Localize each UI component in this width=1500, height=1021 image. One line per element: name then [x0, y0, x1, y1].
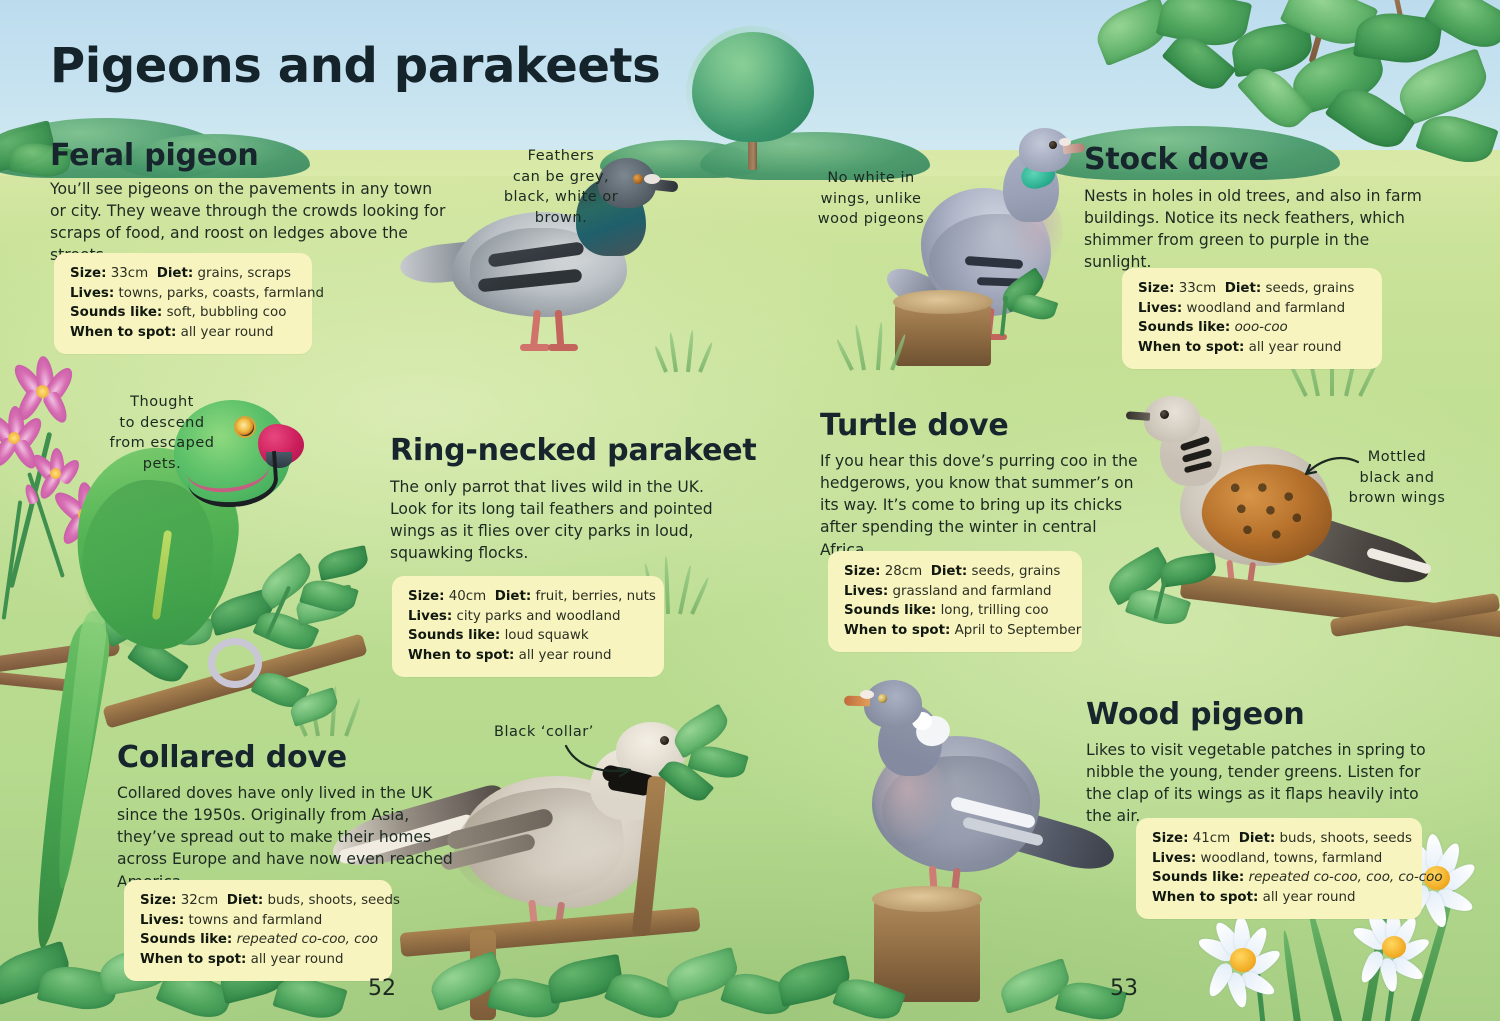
fact-value-sounds: repeated co-coo, coo, co-coo [1249, 870, 1443, 885]
callout-escaped-pets: Thought to descend from escaped pets. [82, 392, 242, 474]
bird-title-collared-dove: Collared dove [117, 740, 347, 775]
fact-value-lives: woodland, towns, farmland [1201, 851, 1383, 866]
fact-row-lives: Lives: city parks and woodland [408, 607, 648, 627]
fact-row-when: When to spot: all year round [140, 950, 376, 970]
fact-label-diet: Diet: [495, 589, 532, 604]
fact-value-sounds: repeated co-coo, coo [237, 932, 378, 947]
bird-title-stock-dove: Stock dove [1084, 142, 1269, 177]
fact-label-size: Size: [1152, 831, 1188, 846]
fact-label-diet: Diet: [227, 893, 264, 908]
fact-row-sounds: Sounds like: ooo-coo [1138, 318, 1366, 338]
page-title: Pigeons and parakeets [50, 38, 660, 94]
fact-label-lives: Lives: [140, 913, 184, 928]
fact-value-diet: buds, shoots, seeds [1280, 831, 1413, 846]
fact-label-diet: Diet: [1239, 831, 1276, 846]
factbox-stock-dove: Size: 33cm Diet: seeds, grains Lives: wo… [1122, 268, 1382, 369]
fact-label-lives: Lives: [1152, 851, 1196, 866]
fact-label-lives: Lives: [1138, 301, 1182, 316]
factbox-ring-necked-parakeet: Size: 40cm Diet: fruit, berries, nuts Li… [392, 576, 664, 677]
fact-value-lives: towns, parks, coasts, farmland [119, 286, 324, 301]
fact-value-size: 41cm [1193, 831, 1230, 846]
fact-row-lives: Lives: towns and farmland [140, 911, 376, 931]
fact-label-diet: Diet: [157, 266, 194, 281]
fact-value-lives: grassland and farmland [893, 584, 1052, 599]
fact-row-lives: Lives: grassland and farmland [844, 582, 1066, 602]
fact-value-diet: seeds, grains [972, 564, 1061, 579]
fact-row-size-diet: Size: 33cm Diet: grains, scraps [70, 264, 296, 284]
fact-label-lives: Lives: [408, 609, 452, 624]
fact-value-diet: seeds, grains [1266, 281, 1355, 296]
fact-label-size: Size: [70, 266, 106, 281]
fact-label-size: Size: [140, 893, 176, 908]
bird-title-feral-pigeon: Feral pigeon [50, 138, 259, 173]
fact-label-when: When to spot: [1138, 340, 1244, 355]
bird-title-turtle-dove: Turtle dove [820, 408, 1009, 443]
fact-value-diet: fruit, berries, nuts [536, 589, 656, 604]
fact-value-sounds: loud squawk [505, 628, 589, 643]
fact-row-lives: Lives: woodland and farmland [1138, 299, 1366, 319]
fact-row-lives: Lives: woodland, towns, farmland [1152, 849, 1406, 869]
fact-row-lives: Lives: towns, parks, coasts, farmland [70, 284, 296, 304]
bird-description-stock-dove: Nests in holes in old trees, and also in… [1084, 185, 1424, 274]
fact-label-when: When to spot: [844, 623, 950, 638]
arrow-black-collar [560, 742, 640, 784]
fact-label-sounds: Sounds like: [70, 305, 162, 320]
fact-label-sounds: Sounds like: [844, 603, 936, 618]
fact-label-size: Size: [1138, 281, 1174, 296]
fact-value-sounds: long, trilling coo [941, 603, 1049, 618]
factbox-feral-pigeon: Size: 33cm Diet: grains, scraps Lives: t… [54, 253, 312, 354]
fact-value-size: 33cm [1179, 281, 1216, 296]
fact-value-size: 40cm [449, 589, 486, 604]
fact-value-when: all year round [1249, 340, 1342, 355]
fact-label-lives: Lives: [844, 584, 888, 599]
illustration-wood-pigeon [830, 660, 1110, 920]
fact-label-sounds: Sounds like: [1138, 320, 1230, 335]
fact-label-diet: Diet: [931, 564, 968, 579]
fact-label-diet: Diet: [1225, 281, 1262, 296]
fact-label-sounds: Sounds like: [140, 932, 232, 947]
fact-value-sounds: soft, bubbling coo [167, 305, 287, 320]
fact-value-size: 32cm [181, 893, 218, 908]
page-number-right: 53 [1110, 976, 1138, 1001]
fact-value-diet: grains, scraps [198, 266, 291, 281]
fact-value-diet: buds, shoots, seeds [268, 893, 401, 908]
fact-value-size: 33cm [111, 266, 148, 281]
fact-row-sounds: Sounds like: repeated co-coo, coo [140, 930, 376, 950]
fact-row-sounds: Sounds like: repeated co-coo, coo, co-co… [1152, 868, 1406, 888]
fact-row-size-diet: Size: 41cm Diet: buds, shoots, seeds [1152, 829, 1406, 849]
fact-value-lives: woodland and farmland [1187, 301, 1346, 316]
fact-row-sounds: Sounds like: soft, bubbling coo [70, 303, 296, 323]
fact-row-size-diet: Size: 28cm Diet: seeds, grains [844, 562, 1066, 582]
fact-row-when: When to spot: all year round [1152, 888, 1406, 908]
bird-title-wood-pigeon: Wood pigeon [1086, 697, 1305, 732]
bird-description-wood-pigeon: Likes to visit vegetable patches in spri… [1086, 739, 1426, 828]
bird-title-ring-necked-parakeet: Ring-necked parakeet [390, 433, 757, 468]
grass-tuft [846, 322, 916, 370]
fact-row-size-diet: Size: 40cm Diet: fruit, berries, nuts [408, 587, 648, 607]
fact-value-when: all year round [519, 648, 612, 663]
fact-row-size-diet: Size: 33cm Diet: seeds, grains [1138, 279, 1366, 299]
fact-label-sounds: Sounds like: [1152, 870, 1244, 885]
fact-label-lives: Lives: [70, 286, 114, 301]
bird-description-collared-dove: Collared doves have only lived in the UK… [117, 782, 457, 893]
fact-value-lives: towns and farmland [189, 913, 323, 928]
fact-row-size-diet: Size: 32cm Diet: buds, shoots, seeds [140, 891, 376, 911]
fact-value-lives: city parks and woodland [457, 609, 621, 624]
fact-row-when: When to spot: all year round [408, 646, 648, 666]
bird-description-turtle-dove: If you hear this dove’s purring coo in t… [820, 450, 1150, 561]
factbox-wood-pigeon: Size: 41cm Diet: buds, shoots, seeds Liv… [1136, 818, 1422, 919]
fact-row-when: When to spot: all year round [1138, 338, 1366, 358]
bird-description-ring-necked-parakeet: The only parrot that lives wild in the U… [390, 476, 725, 565]
callout-no-white-in-wings: No white in wings, unlike wood pigeons [796, 168, 946, 230]
callout-feathers-colour: Feathers can be grey, black, white or br… [476, 146, 646, 228]
fact-value-when: all year round [251, 952, 344, 967]
fact-row-when: When to spot: April to September [844, 621, 1066, 641]
fact-label-size: Size: [844, 564, 880, 579]
fact-label-sounds: Sounds like: [408, 628, 500, 643]
fact-row-sounds: Sounds like: loud squawk [408, 626, 648, 646]
fact-label-when: When to spot: [140, 952, 246, 967]
book-page-spread: Pigeons and parakeets Feral pigeon You’l… [0, 0, 1500, 1021]
fact-row-sounds: Sounds like: long, trilling coo [844, 601, 1066, 621]
factbox-turtle-dove: Size: 28cm Diet: seeds, grains Lives: gr… [828, 551, 1082, 652]
fact-value-sounds: ooo-coo [1235, 320, 1288, 335]
fact-value-when: all year round [181, 325, 274, 340]
fact-label-size: Size: [408, 589, 444, 604]
tree-crown [692, 32, 814, 142]
fact-label-when: When to spot: [408, 648, 514, 663]
fact-value-when: all year round [1263, 890, 1356, 905]
fact-label-when: When to spot: [1152, 890, 1258, 905]
factbox-collared-dove: Size: 32cm Diet: buds, shoots, seeds Liv… [124, 880, 392, 981]
callout-black-collar: Black ‘collar’ [494, 722, 654, 743]
page-number-left: 52 [368, 976, 396, 1001]
callout-mottled-wings: Mottled black and brown wings [1332, 447, 1462, 509]
fact-value-size: 28cm [885, 564, 922, 579]
fact-value-when: April to September [955, 623, 1082, 638]
fact-label-when: When to spot: [70, 325, 176, 340]
fact-row-when: When to spot: all year round [70, 323, 296, 343]
